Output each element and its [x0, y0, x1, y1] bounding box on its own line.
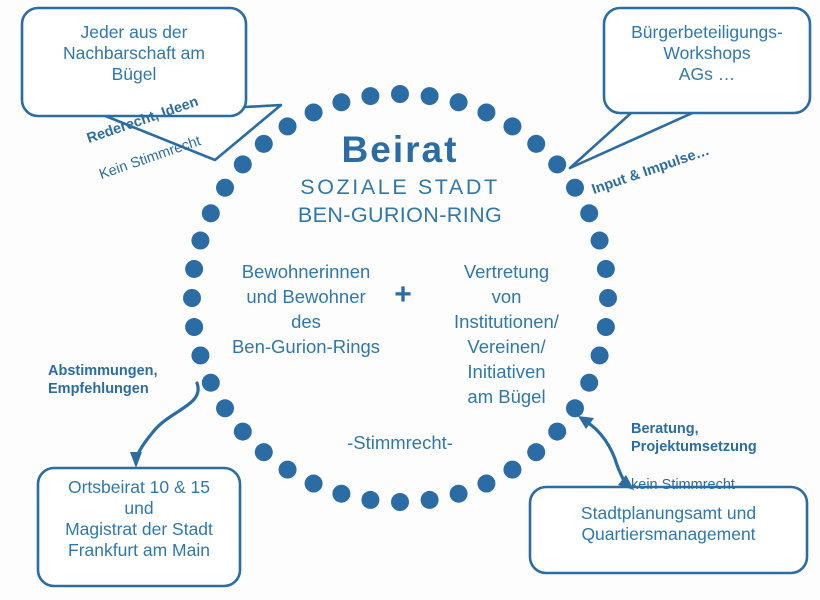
ring-dot — [234, 423, 252, 441]
ring-dot — [527, 135, 545, 153]
ring-dot — [503, 117, 521, 135]
ring-dot — [591, 232, 609, 250]
annotation-beratung-bold: Beratung, Projektumsetzung — [631, 420, 811, 456]
ring-dot — [305, 103, 323, 121]
ring-dot — [591, 346, 609, 364]
ring-dot — [597, 260, 615, 278]
ring-dot — [566, 179, 584, 197]
ring-dot — [332, 485, 350, 503]
annotation-beratung: Beratung, Projektumsetzung kein Stimmrec… — [631, 400, 811, 514]
arrow-right-bidirectional — [578, 416, 634, 490]
ring-dot — [216, 179, 234, 197]
ring-dot — [503, 461, 521, 479]
annotation-beratung-regular: kein Stimmrecht — [631, 476, 811, 494]
ring-dot — [361, 491, 379, 509]
ring-dot — [450, 93, 468, 111]
ring-dot — [305, 475, 323, 493]
ring-dot — [279, 117, 297, 135]
diagram-canvas: Jeder aus der Nachbarschaft am Bügel Red… — [0, 0, 820, 600]
ring-dot — [234, 155, 252, 173]
ring-dot — [580, 204, 598, 222]
ring-dot — [597, 318, 615, 336]
ring-dot — [450, 485, 468, 503]
ring-dot — [255, 135, 273, 153]
ring-dot — [566, 399, 584, 417]
ring-dot — [202, 204, 220, 222]
ring-dot — [599, 289, 617, 307]
ring-dot — [580, 374, 598, 392]
box-bottom-left[interactable] — [38, 468, 240, 586]
ring-dot — [391, 493, 409, 511]
ring-dot — [185, 260, 203, 278]
ring-dot — [216, 399, 234, 417]
ring-dot — [477, 475, 495, 493]
ring-dot — [279, 461, 297, 479]
ring-dot — [361, 87, 379, 105]
ring-dot — [421, 87, 439, 105]
ring-dot — [191, 232, 209, 250]
ring-dot — [548, 423, 566, 441]
ring-dot — [185, 318, 203, 336]
ring-dot — [332, 93, 350, 111]
annotation-abstimmungen: Abstimmungen, Empfehlungen — [48, 362, 218, 398]
ring-dot — [477, 103, 495, 121]
dotted-ring — [183, 85, 617, 511]
ring-dot — [183, 289, 201, 307]
ring-dot — [391, 85, 409, 103]
ring-dot — [421, 491, 439, 509]
ring-dot — [527, 443, 545, 461]
ring-dot — [255, 443, 273, 461]
ring-dot — [548, 155, 566, 173]
